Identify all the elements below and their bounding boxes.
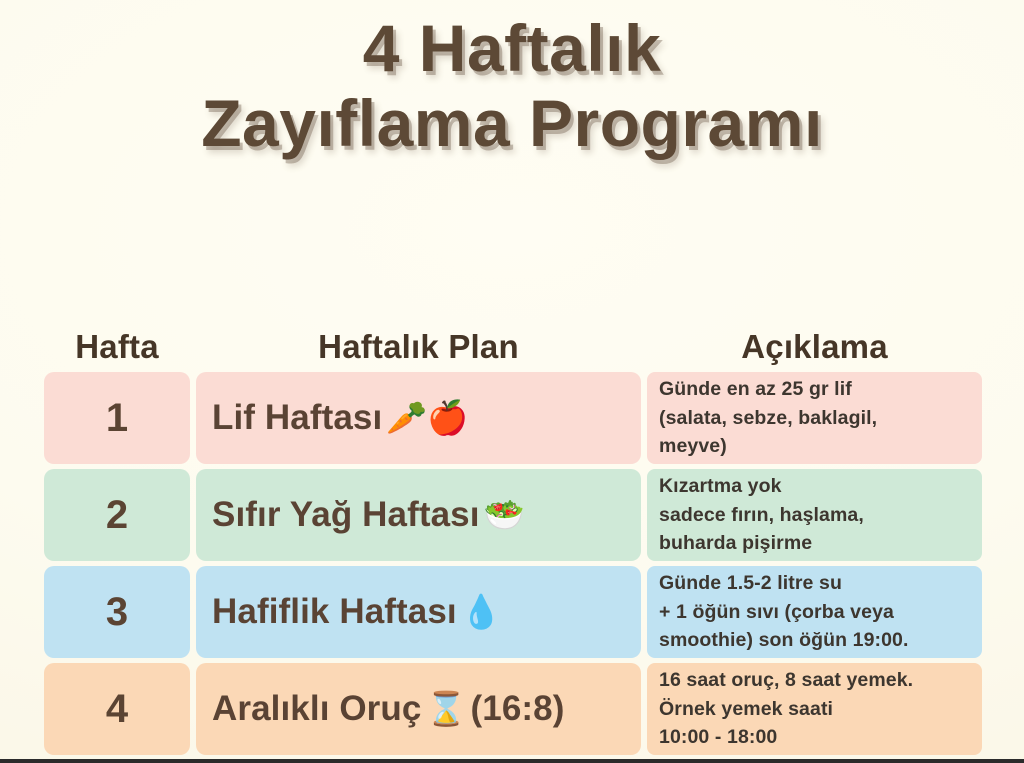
description-line: 10:00 - 18:00	[659, 723, 913, 751]
description-line: smoothie) son öğün 19:00.	[659, 626, 909, 654]
table-row: 4Aralıklı Oruç⌛(16:8)16 saat oruç, 8 saa…	[44, 663, 982, 755]
description-text: Günde 1.5-2 litre su+ 1 öğün sıvı (çorba…	[659, 569, 909, 654]
week-number: 1	[106, 396, 128, 441]
description-line: 16 saat oruç, 8 saat yemek.	[659, 666, 913, 694]
table-body: 1Lif Haftası🥕🍎Günde en az 25 gr lif(sala…	[44, 372, 982, 755]
table-row: 3Hafiflik Haftası💧Günde 1.5-2 litre su+ …	[44, 566, 982, 658]
week-number-cell: 1	[44, 372, 190, 464]
description-line: + 1 öğün sıvı (çorba veya	[659, 598, 909, 626]
description-line: Günde 1.5-2 litre su	[659, 569, 909, 597]
description-text: Günde en az 25 gr lif(salata, sebze, bak…	[659, 375, 877, 460]
description-line: buharda pişirme	[659, 529, 864, 557]
description-line: sadece fırın, haşlama,	[659, 501, 864, 529]
table-header-row: Hafta Haftalık Plan Açıklama	[44, 306, 982, 372]
carrot-emoji: 🥕🍎	[386, 399, 468, 438]
description-line: Günde en az 25 gr lif	[659, 375, 877, 403]
table-row: 2Sıfır Yağ Haftası🥗Kızartma yoksadece fı…	[44, 469, 982, 561]
table-row: 1Lif Haftası🥕🍎Günde en az 25 gr lif(sala…	[44, 372, 982, 464]
hourglass-emoji: ⌛	[425, 690, 466, 729]
description-cell: Kızartma yoksadece fırın, haşlama,buhard…	[647, 469, 982, 561]
description-text: 16 saat oruç, 8 saat yemek.Örnek yemek s…	[659, 666, 913, 751]
plan-label: Sıfır Yağ Haftası	[212, 495, 480, 535]
plan-label: Lif Haftası	[212, 398, 382, 438]
description-line: (salata, sebze, baklagil,	[659, 404, 877, 432]
description-cell: Günde en az 25 gr lif(salata, sebze, bak…	[647, 372, 982, 464]
week-number: 4	[106, 687, 128, 732]
description-cell: 16 saat oruç, 8 saat yemek.Örnek yemek s…	[647, 663, 982, 755]
description-line: Kızartma yok	[659, 472, 864, 500]
week-number-cell: 3	[44, 566, 190, 658]
plan-cell: Sıfır Yağ Haftası🥗	[196, 469, 641, 561]
week-number: 3	[106, 590, 128, 635]
plan-label: Hafiflik Haftası	[212, 592, 457, 632]
description-line: meyve)	[659, 432, 877, 460]
page-title: 4 Haftalık Zayıflama Programı	[0, 14, 1024, 157]
plan-cell: Lif Haftası🥕🍎	[196, 372, 641, 464]
column-header-week: Hafta	[44, 328, 190, 372]
green-salad-emoji: 🥗	[484, 496, 525, 535]
bottom-edge-bar	[0, 759, 1024, 763]
column-header-description: Açıklama	[647, 328, 982, 372]
description-cell: Günde 1.5-2 litre su+ 1 öğün sıvı (çorba…	[647, 566, 982, 658]
description-text: Kızartma yoksadece fırın, haşlama,buhard…	[659, 472, 864, 557]
plan-suffix: (16:8)	[471, 689, 565, 729]
plan-label: Aralıklı Oruç	[212, 689, 421, 729]
description-line: Örnek yemek saati	[659, 695, 913, 723]
water-droplet-emoji: 💧	[461, 593, 502, 632]
plan-cell: Hafiflik Haftası💧	[196, 566, 641, 658]
week-number-cell: 4	[44, 663, 190, 755]
week-number: 2	[106, 493, 128, 538]
page-title-line-2: Zayıflama Programı	[0, 89, 1024, 158]
column-header-plan: Haftalık Plan	[196, 328, 641, 372]
program-table: Hafta Haftalık Plan Açıklama 1Lif Haftas…	[44, 306, 982, 760]
page-title-line-1: 4 Haftalık	[0, 14, 1024, 83]
plan-cell: Aralıklı Oruç⌛(16:8)	[196, 663, 641, 755]
week-number-cell: 2	[44, 469, 190, 561]
